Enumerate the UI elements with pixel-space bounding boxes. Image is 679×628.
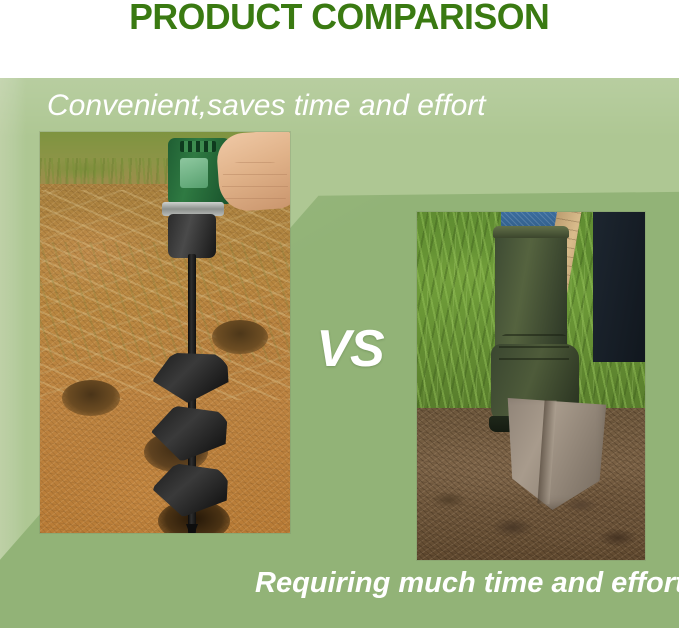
- left-headline-text: Convenient,saves time and effort: [47, 89, 486, 123]
- right-headline: Requiring much time and effort: [255, 562, 675, 604]
- drill-chuck: [168, 214, 216, 258]
- dirt-clods: [417, 474, 645, 560]
- trouser-leg: [593, 212, 645, 362]
- boot-straps: [499, 334, 569, 368]
- right-headline-text: Requiring much time and effort: [255, 567, 679, 600]
- title-bar: PRODUCT COMPARISON: [0, 0, 679, 78]
- drilled-hole-right: [212, 320, 268, 354]
- drill-vents: [180, 141, 216, 152]
- drilled-hole-left: [62, 380, 120, 416]
- page-title: PRODUCT COMPARISON: [129, 0, 549, 35]
- versus-label: VS: [316, 323, 383, 375]
- left-headline: Convenient,saves time and effort: [47, 84, 607, 128]
- hand-fingers: [222, 162, 288, 208]
- versus-badge: VS: [310, 318, 390, 380]
- auger-drill-photo: [40, 132, 290, 533]
- product-comparison-banner: PRODUCT COMPARISON Convenient,saves time…: [0, 0, 679, 628]
- boot-cuff: [493, 226, 569, 238]
- shovel-digging-photo: [417, 212, 645, 560]
- drill-label-plate: [180, 158, 208, 188]
